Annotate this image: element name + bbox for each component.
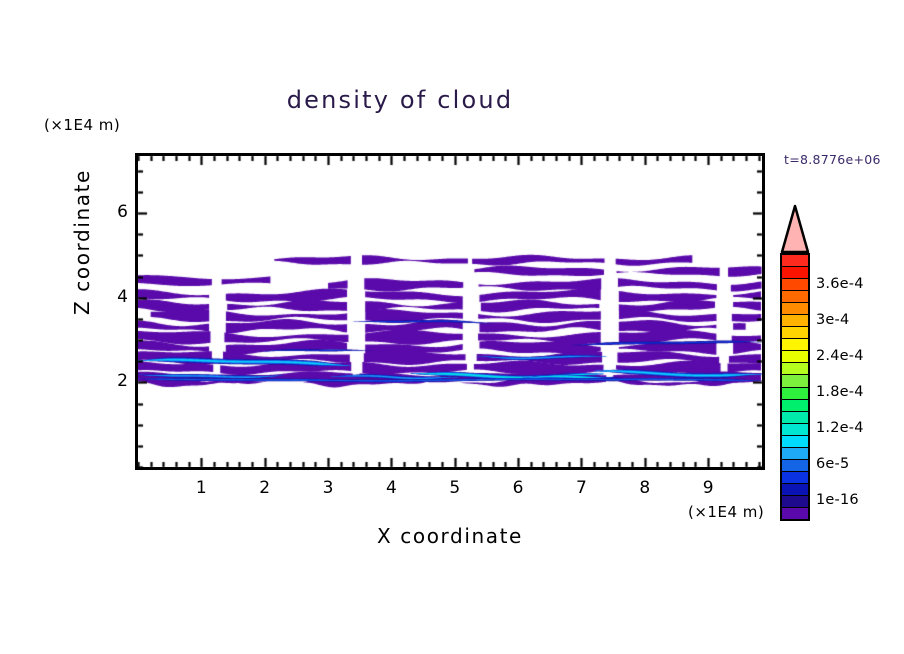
colorbar-swatch [782, 363, 808, 375]
colorbar-swatch [782, 424, 808, 436]
colorbar-swatch [782, 267, 808, 279]
colorbar-tick-label: 1.8e-4 [816, 384, 864, 400]
colorbar-swatches [780, 253, 810, 521]
colorbar-tick-label: 6e-5 [816, 456, 849, 472]
x-tick-label: 4 [376, 478, 406, 498]
x-tick-label: 9 [693, 478, 723, 498]
x-tick-label: 1 [186, 478, 216, 498]
colorbar-swatch [782, 291, 808, 303]
colorbar-swatch [782, 508, 808, 519]
colorbar-swatch [782, 351, 808, 363]
colorbar-swatch [782, 496, 808, 508]
colorbar-swatch [782, 472, 808, 484]
x-tick-label: 3 [313, 478, 343, 498]
colorbar-swatch [782, 255, 808, 267]
y-axis-title: Z coordinate [70, 152, 94, 332]
y-tick-label: 6 [96, 202, 128, 222]
colorbar-tick-label: 3.6e-4 [816, 276, 864, 292]
colorbar-swatch [782, 315, 808, 327]
colorbar-swatch [782, 460, 808, 472]
colorbar-swatch [782, 339, 808, 351]
colorbar-swatch [782, 375, 808, 387]
colorbar-tick-label: 2.4e-4 [816, 348, 864, 364]
colorbar-swatch [782, 412, 808, 424]
x-tick-label: 2 [250, 478, 280, 498]
colorbar-swatch [782, 327, 808, 339]
colorbar-tick-label: 1.2e-4 [816, 420, 864, 436]
colorbar-swatch [782, 388, 808, 400]
colorbar-overflow-cap-icon [780, 204, 810, 254]
colorbar-swatch [782, 484, 808, 496]
colorbar-swatch [782, 400, 808, 412]
x-tick-label: 6 [503, 478, 533, 498]
y-tick-label: 2 [96, 371, 128, 391]
colorbar-swatch [782, 279, 808, 291]
x-axis-units-label: (×1E4 m) [688, 503, 764, 521]
colorbar-swatch [782, 436, 808, 448]
x-tick-label: 7 [566, 478, 596, 498]
colorbar-tick-label: 3e-4 [816, 312, 849, 328]
colorbar-swatch [782, 448, 808, 460]
y-tick-label: 4 [96, 287, 128, 307]
plot-canvas: density of cloud (×1E4 m) t=8.8776e+06 Z… [0, 0, 904, 654]
axis-ticks [0, 0, 904, 654]
x-tick-label: 5 [440, 478, 470, 498]
colorbar-swatch [782, 303, 808, 315]
x-axis-title: X coordinate [275, 524, 625, 548]
x-tick-label: 8 [630, 478, 660, 498]
colorbar-tick-label: 1e-16 [816, 492, 859, 508]
